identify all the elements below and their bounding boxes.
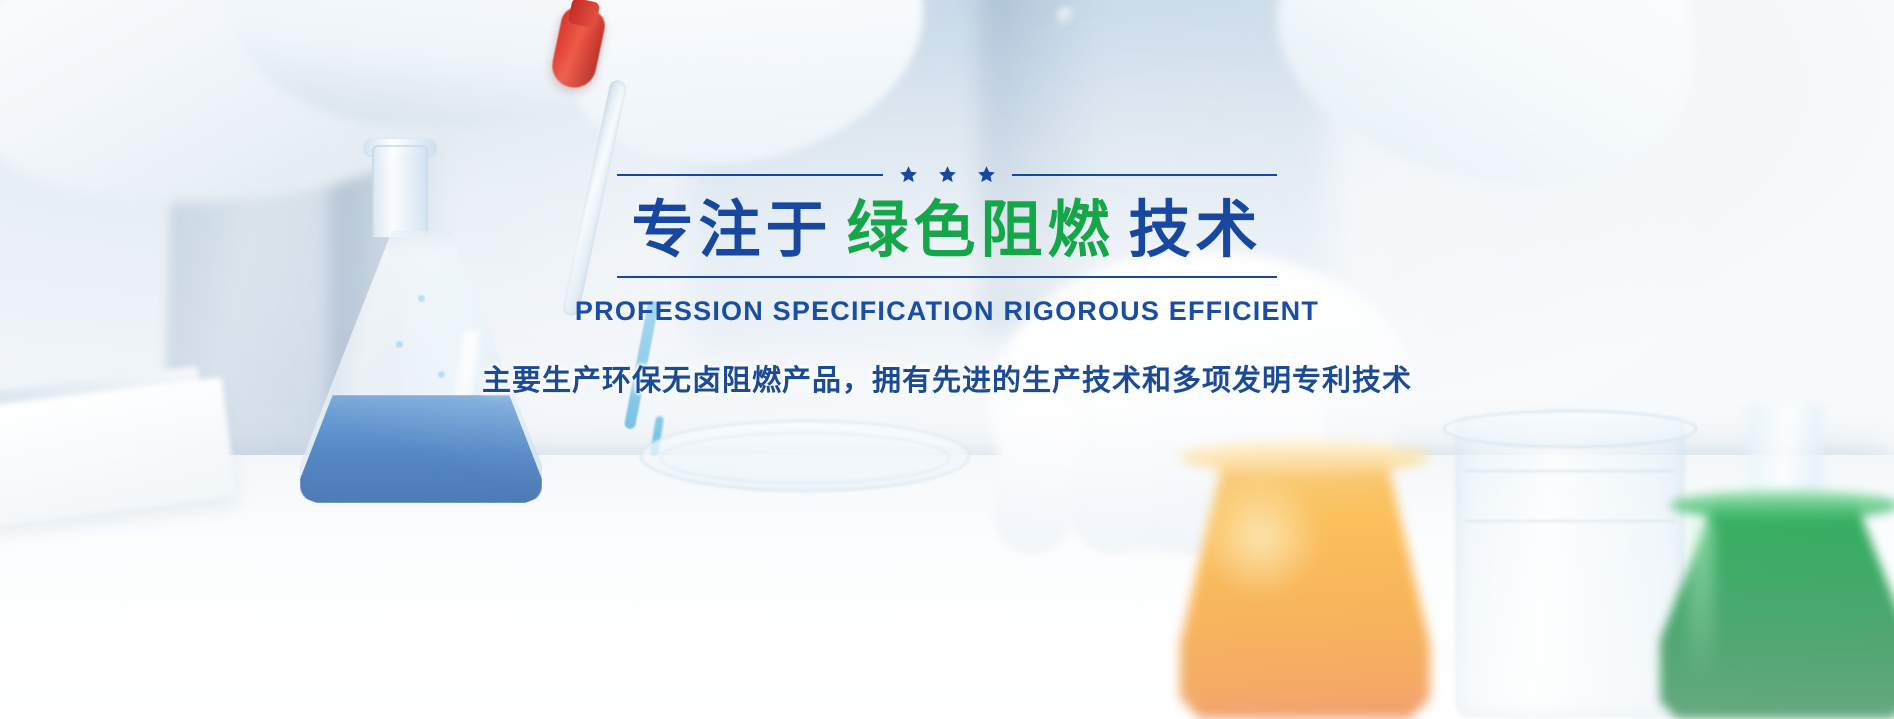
chinese-tagline: 主要生产环保无卤阻燃产品，拥有先进的生产技术和多项发明专利技术	[482, 357, 1412, 399]
rule-right	[1012, 174, 1278, 176]
banner-content: 专注于 绿色阻燃 技术 PROFESSION SPECIFICATION RIG…	[0, 0, 1894, 719]
headline-part-2: 绿色阻燃	[846, 198, 1114, 264]
star-icon	[899, 165, 918, 184]
decorative-rule-row	[617, 165, 1277, 184]
headline-part-3: 技术	[1129, 198, 1263, 264]
star-icon	[977, 165, 996, 184]
rule-bottom	[617, 276, 1277, 278]
star-group	[899, 165, 996, 184]
rule-left	[617, 174, 883, 176]
headline-part-1: 专注于	[631, 198, 832, 264]
english-subtitle: PROFESSION SPECIFICATION RIGOROUS EFFICI…	[575, 296, 1319, 327]
page-title: 专注于 绿色阻燃 技术	[631, 198, 1262, 264]
hero-banner: 专注于 绿色阻燃 技术 PROFESSION SPECIFICATION RIG…	[0, 0, 1894, 719]
star-icon	[938, 165, 957, 184]
